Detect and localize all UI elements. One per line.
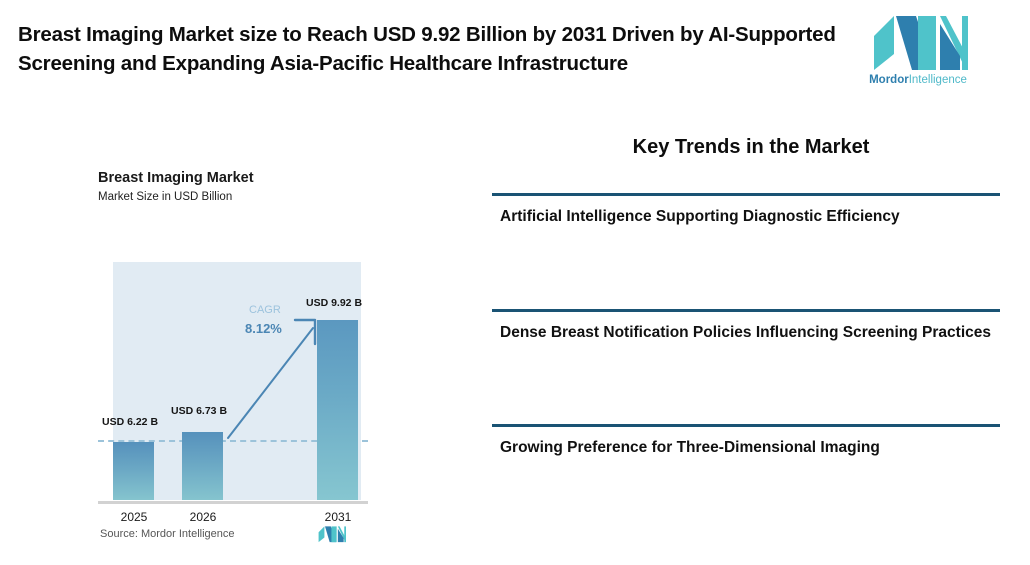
bar-2025: [113, 442, 154, 500]
brand-wordmark: MordorIntelligence: [868, 74, 968, 86]
trend-item-3: Growing Preference for Three-Dimensional…: [500, 436, 994, 459]
brand-word-primary: Mordor: [869, 74, 909, 86]
trend-divider-1: [492, 193, 1000, 196]
trend-divider-3: [492, 424, 1000, 427]
page-title: Breast Imaging Market size to Reach USD …: [18, 20, 848, 78]
x-tick-2025: 2025: [103, 510, 165, 524]
chart-title: Breast Imaging Market: [98, 170, 254, 186]
bar-2031: [317, 320, 358, 500]
brand-logo: MordorIntelligence: [868, 14, 968, 92]
bar-2026: [182, 432, 223, 500]
chart-source-note: Source: Mordor Intelligence: [100, 528, 235, 540]
x-tick-2031: 2031: [307, 510, 369, 524]
trend-divider-2: [492, 309, 1000, 312]
chart-panel: Breast Imaging Market Market Size in USD…: [0, 150, 470, 565]
growth-arrow-icon: [223, 314, 323, 442]
bar-label-2026: USD 6.73 B: [171, 405, 227, 417]
chart-x-axis-line: [98, 501, 368, 504]
chart-subtitle: Market Size in USD Billion: [98, 191, 232, 203]
mordor-intelligence-mark-icon: [318, 524, 346, 544]
trend-item-1: Artificial Intelligence Supporting Diagn…: [500, 205, 994, 228]
key-trends-panel: Key Trends in the Market Artificial Inte…: [492, 130, 1002, 460]
mordor-intelligence-logo-icon: [872, 14, 968, 70]
key-trends-heading: Key Trends in the Market: [506, 136, 996, 159]
bar-label-2025: USD 6.22 B: [102, 416, 158, 428]
brand-word-secondary: Intelligence: [909, 74, 967, 86]
x-tick-2026: 2026: [172, 510, 234, 524]
chart-plot-area: USD 6.22 B USD 6.73 B USD 9.92 B CAGR 8.…: [98, 210, 368, 500]
trend-item-2: Dense Breast Notification Policies Influ…: [500, 321, 994, 344]
bar-label-2031: USD 9.92 B: [306, 297, 362, 309]
